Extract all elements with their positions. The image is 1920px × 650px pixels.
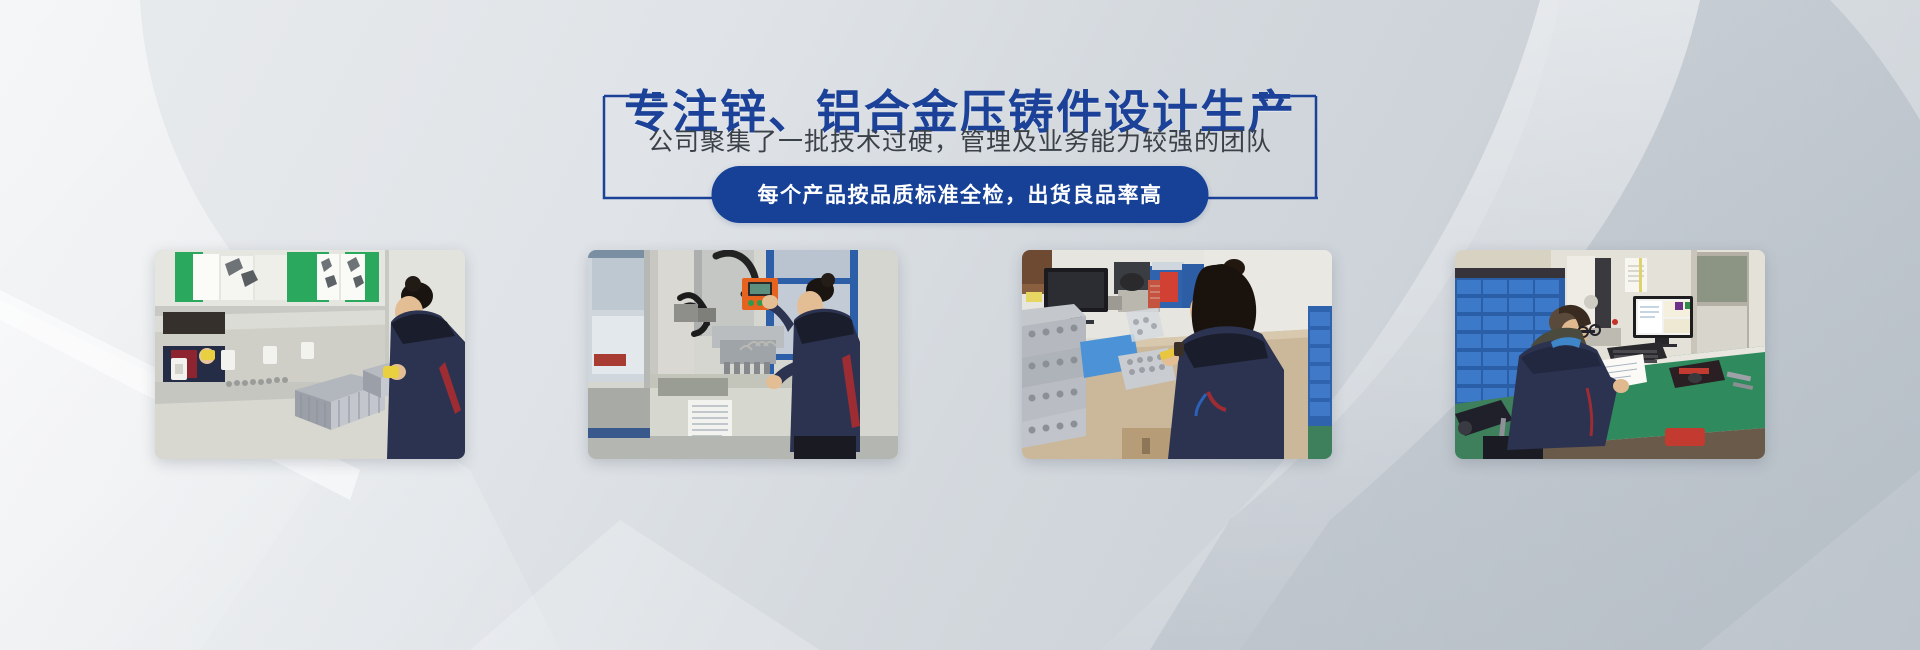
photo-4-image: [1455, 250, 1765, 459]
page-subtitle: 公司聚集了一批技术过硬，管理及业务能力较强的团队: [602, 122, 1318, 158]
promo-banner: 专注锌、铝合金压铸件设计生产 公司聚集了一批技术过硬，管理及业务能力较强的团队 …: [0, 0, 1920, 650]
photo-2-image: [588, 250, 898, 459]
wedge-center-lower: [470, 520, 820, 650]
photo-thumbnail-4[interactable]: [1455, 250, 1765, 459]
photo-thumbnail-1[interactable]: [155, 250, 465, 459]
photo-1-image: [155, 250, 465, 459]
band-right-bottom: [1700, 470, 1920, 650]
photo-3-image: [1022, 250, 1332, 459]
photo-thumbnail-2[interactable]: [588, 250, 898, 459]
status-badge: 每个产品按品质标准全检，出货良品率高: [712, 166, 1209, 223]
photo-strip: [155, 250, 1765, 459]
headline-block: 专注锌、铝合金压铸件设计生产 公司聚集了一批技术过硬，管理及业务能力较强的团队 …: [0, 58, 1920, 208]
photo-thumbnail-3[interactable]: [1022, 250, 1332, 459]
